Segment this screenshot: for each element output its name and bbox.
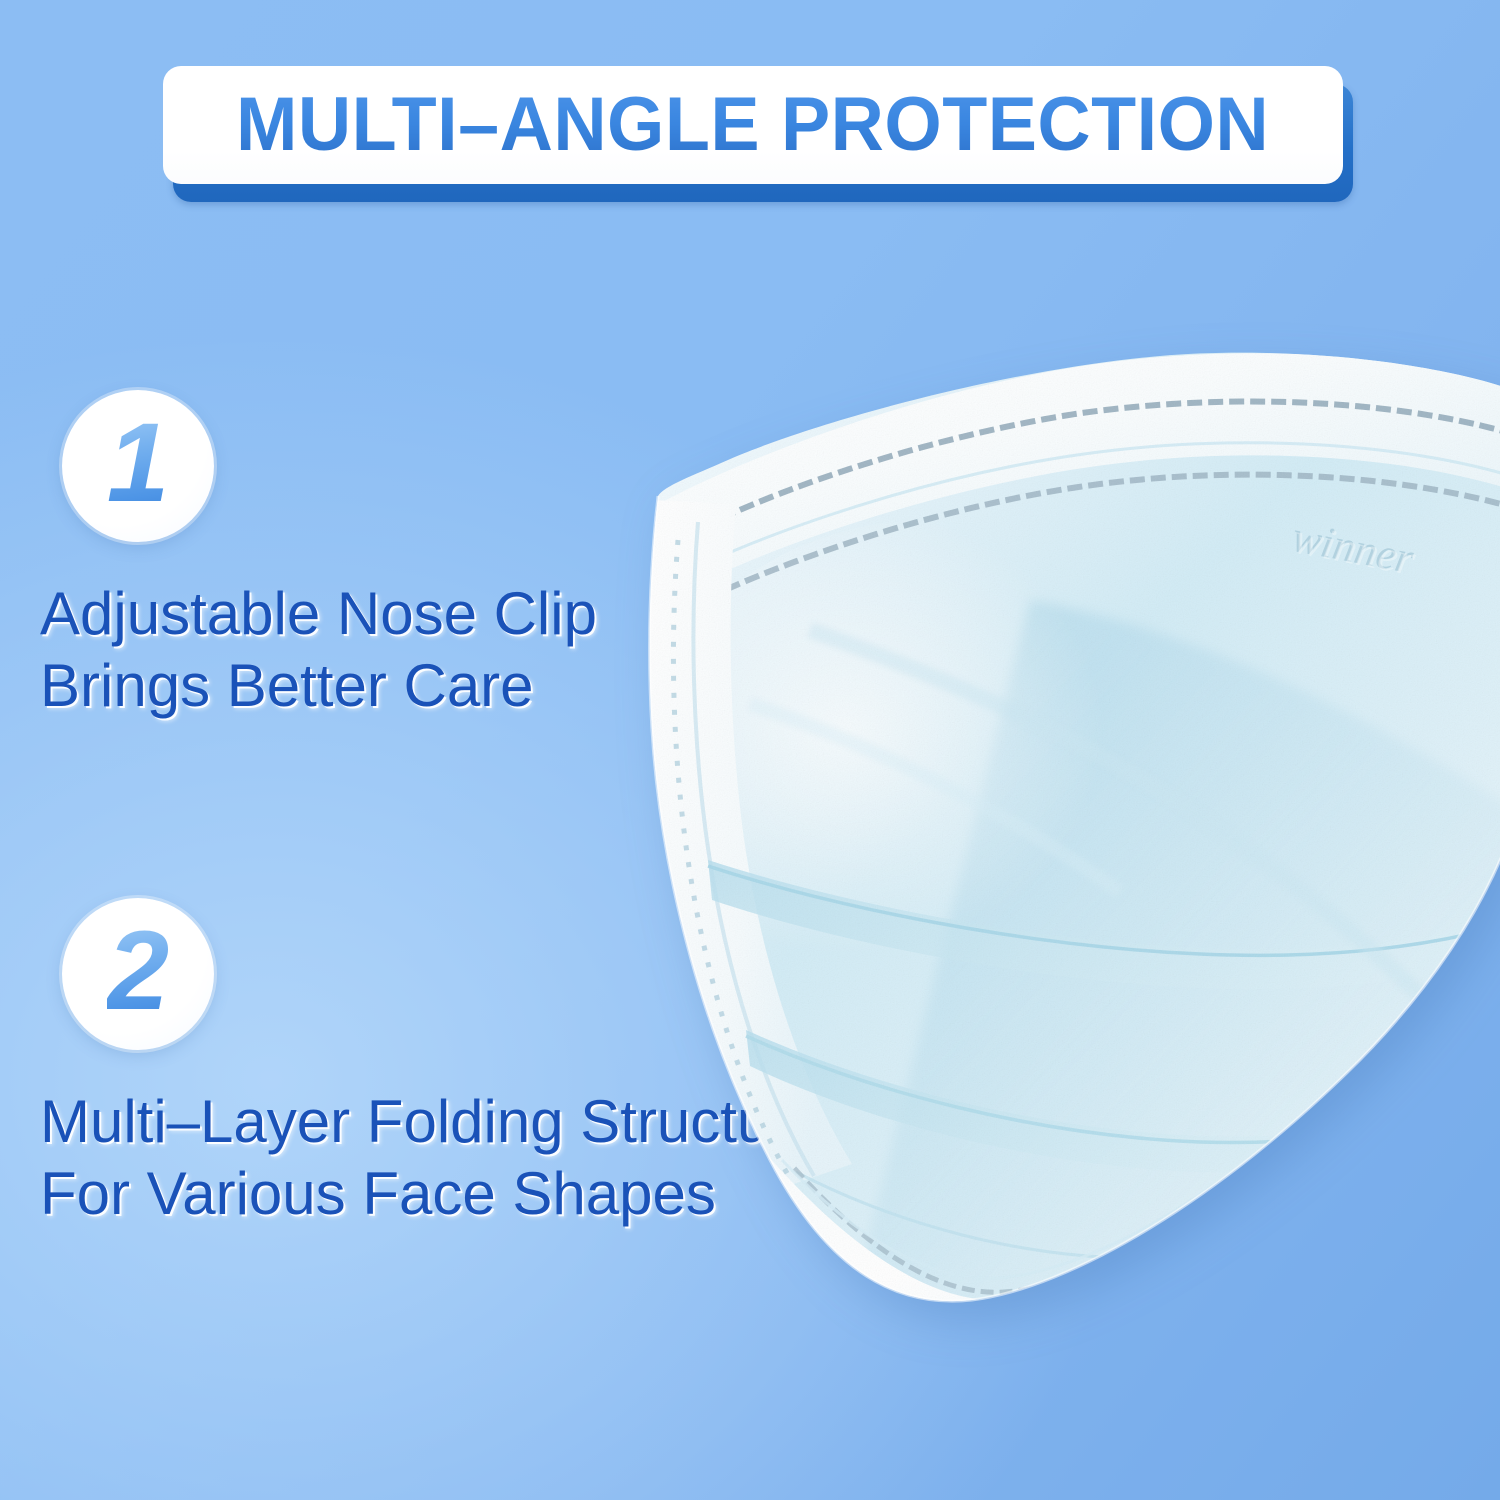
step-badge-1: 1: [62, 390, 214, 542]
header-banner: MULTI–ANGLE PROTECTION: [163, 66, 1343, 188]
step-number-1: 1: [107, 407, 169, 519]
face-mask-product-image: winner winner: [600, 300, 1500, 1310]
banner-card: MULTI–ANGLE PROTECTION: [163, 66, 1343, 184]
infographic-canvas: MULTI–ANGLE PROTECTION 1 Adjustable Nose…: [0, 0, 1500, 1500]
face-mask-illustration: winner winner: [600, 300, 1500, 1310]
step-badge-2: 2: [62, 898, 214, 1050]
page-title: MULTI–ANGLE PROTECTION: [231, 87, 1276, 163]
mask-body-group: winner winner: [600, 300, 1500, 1310]
step-number-2: 2: [107, 915, 169, 1027]
mask-fabric-texture: [600, 300, 1500, 1310]
